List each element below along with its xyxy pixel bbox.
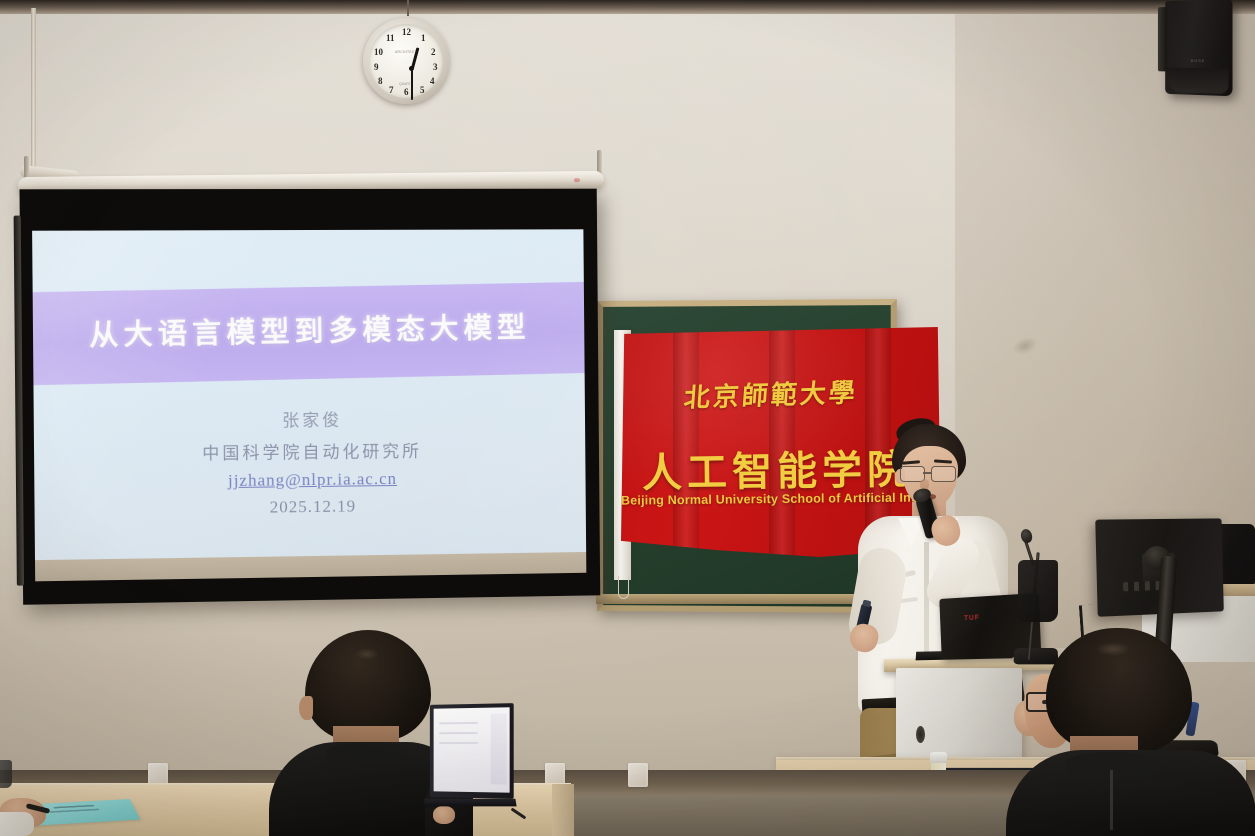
attendee-laptop-base[interactable] [423, 799, 516, 807]
attendee-laptop[interactable] [428, 704, 518, 836]
wall-clock: 12 1 2 3 4 5 6 7 8 9 10 11 ARCHITECT QUA… [363, 12, 451, 104]
projection-screen: 从大语言模型到多模态大模型 张家俊 中国科学院自动化研究所 jjzhang@nl… [19, 189, 600, 605]
clock-minute-hand [411, 68, 413, 100]
wall-speaker: BOSE [1165, 0, 1232, 96]
speaker-grille [1167, 68, 1228, 95]
laptop-screen-text-line [439, 742, 478, 744]
right-attendee-hair-highlight [1096, 642, 1130, 656]
desk-gap-edge [552, 784, 574, 836]
clock-numeral-1: 1 [421, 34, 426, 43]
attendee-sleeve [0, 812, 34, 836]
laptop-brand-logo: TUF [964, 614, 985, 622]
banner-university-name: 北京師範大學 [620, 370, 923, 417]
slide-affiliation: 中国科学院自动化研究所 [34, 435, 585, 466]
handout-text-line [50, 809, 100, 813]
attendee-laptop-screen [434, 707, 510, 792]
clock-hanger [407, 0, 409, 16]
black-equipment-pod [1018, 560, 1058, 622]
left-dark-object [0, 760, 12, 788]
attendee-laptop-lid [430, 703, 514, 799]
clock-numeral-4: 4 [430, 77, 435, 86]
wall-outlet[interactable] [628, 763, 648, 787]
ceiling-edge [0, 0, 1255, 14]
clock-numeral-9: 9 [374, 63, 379, 72]
roller-label-mark [574, 178, 580, 182]
glasses-bridge [923, 472, 932, 474]
handout-text-line [53, 805, 94, 809]
laptop-screen-text-line [439, 722, 478, 724]
speaker-logo-text: BOSE [1191, 58, 1206, 63]
clock-numeral-2: 2 [431, 48, 436, 57]
laptop-screen-text-line [439, 732, 478, 734]
clock-numeral-3: 3 [433, 63, 438, 72]
clock-numeral-10: 10 [374, 48, 383, 57]
left-attendee-ear [299, 696, 313, 720]
slide-canvas: 从大语言模型到多模态大模型 张家俊 中国科学院自动化研究所 jjzhang@nl… [32, 229, 586, 560]
left-attendee-hair-whorl [355, 648, 379, 660]
slide-email-link[interactable]: jjzhang@nlpr.ia.ac.cn [34, 467, 585, 494]
glasses-lens-right [931, 466, 956, 482]
right-attendee-zipper [1110, 770, 1113, 830]
clock-center-pin [409, 66, 414, 71]
clock-numeral-5: 5 [420, 86, 425, 95]
lectern-door-handle[interactable] [916, 726, 925, 743]
laptop-screen-panel [491, 713, 507, 784]
monitor-ports [1123, 581, 1161, 591]
clock-numeral-6: 6 [404, 88, 409, 97]
lecture-hall-photo: 12 1 2 3 4 5 6 7 8 9 10 11 ARCHITECT QUA… [0, 0, 1255, 836]
speaker-bracket [1158, 7, 1167, 71]
roller-blind-cord [618, 576, 629, 599]
slide-date: 2025.12.19 [34, 494, 585, 521]
screen-bracket-left [24, 156, 29, 178]
clock-numeral-7: 7 [389, 86, 394, 95]
slide-presenter-name: 张家俊 [34, 404, 585, 434]
clock-numeral-11: 11 [386, 34, 395, 43]
clicker-tip [862, 600, 871, 608]
clock-bezel: 12 1 2 3 4 5 6 7 8 9 10 11 ARCHITECT QUA… [363, 18, 449, 104]
presenter-glasses [898, 466, 960, 481]
wall-conduit-pipe [31, 8, 36, 183]
slide-subtitle-block: 张家俊 中国科学院自动化研究所 jjzhang@nlpr.ia.ac.cn 20… [34, 404, 586, 528]
left-attendee-collar [327, 742, 409, 762]
clock-numeral-8: 8 [378, 77, 383, 86]
clock-face: 12 1 2 3 4 5 6 7 8 9 10 11 ARCHITECT QUA… [369, 24, 443, 98]
audience-member-right [1000, 624, 1255, 836]
bottle-cap[interactable] [930, 752, 947, 763]
clock-numeral-12: 12 [402, 28, 411, 37]
